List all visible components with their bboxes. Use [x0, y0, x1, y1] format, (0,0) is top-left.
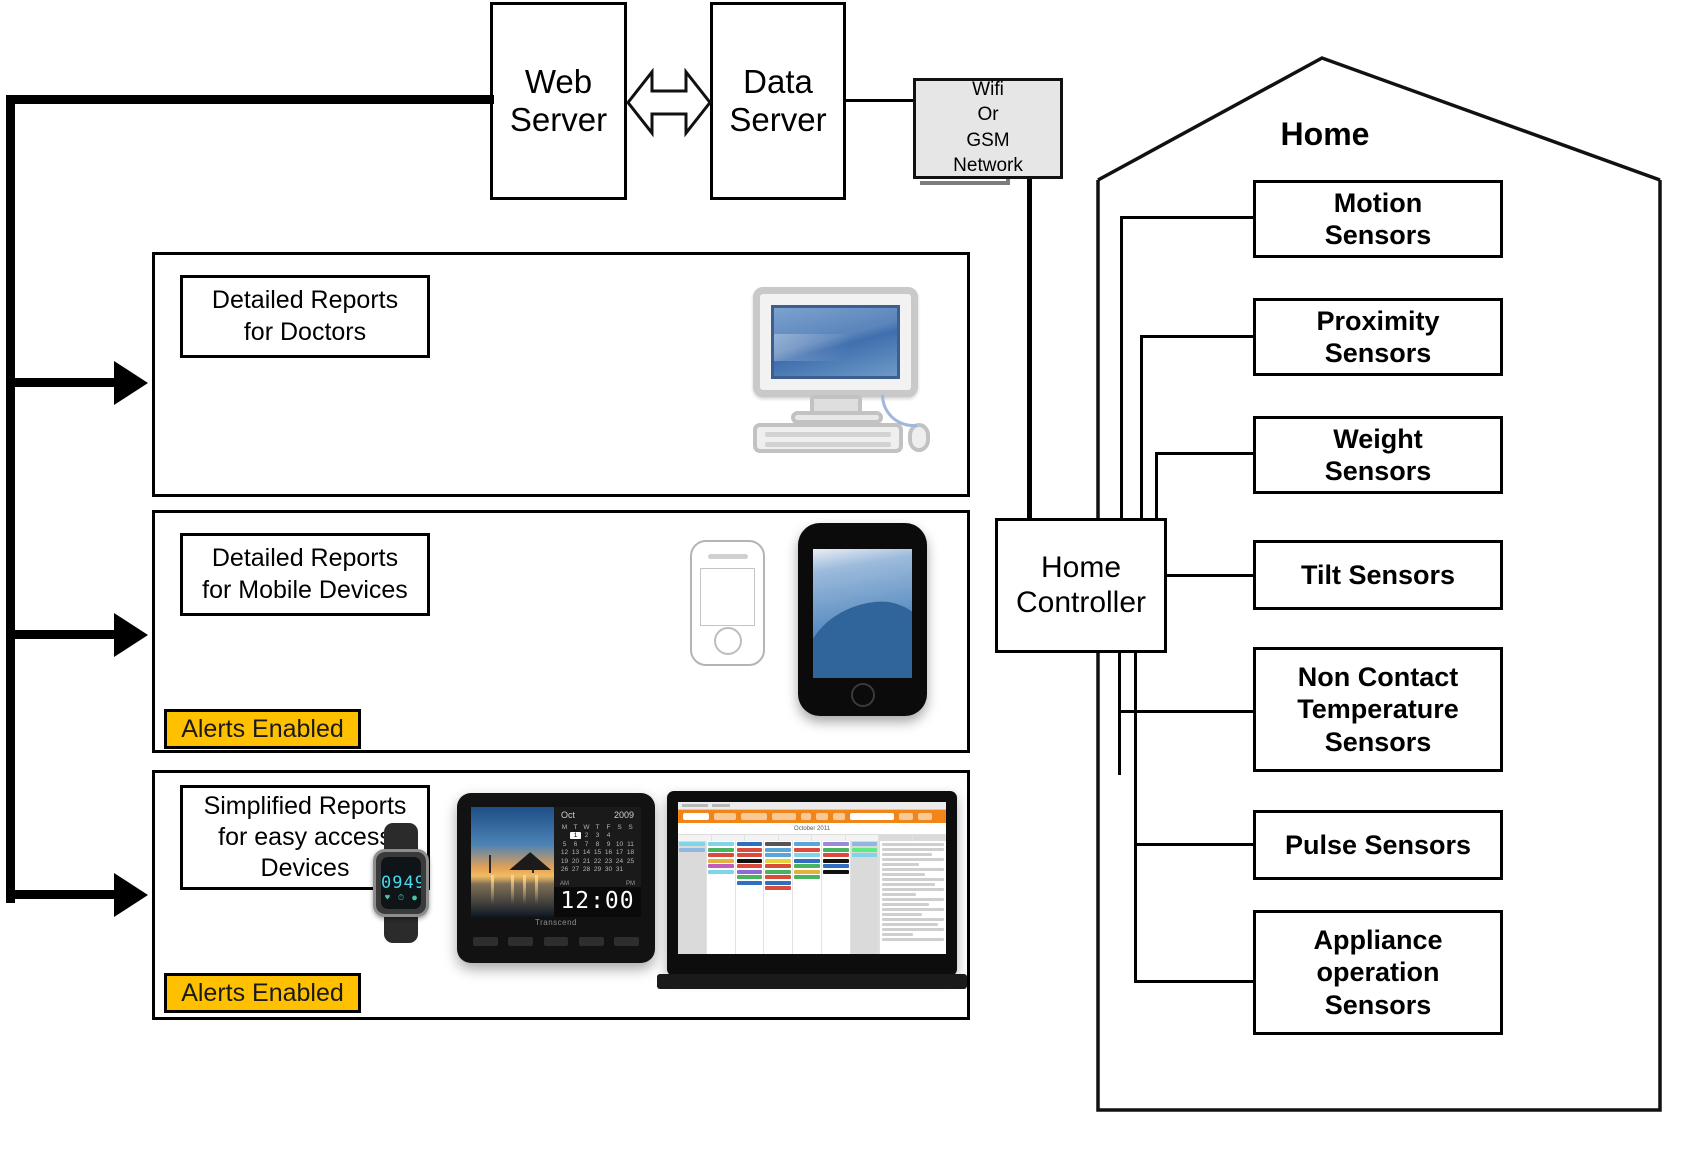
- mouse-icon: [908, 423, 930, 452]
- mobile-report-label: Detailed Reports for Mobile Devices: [202, 543, 408, 606]
- home-controller-box[interactable]: Home Controller: [995, 518, 1167, 653]
- home-controller-label-1: Home: [1041, 551, 1121, 586]
- smartphone-icon: [690, 540, 765, 666]
- sensor-link-motion: [1120, 216, 1255, 219]
- alerts-enabled-badge-easy[interactable]: Alerts Enabled: [164, 973, 361, 1013]
- network-label: Wifi Or GSM Network: [953, 77, 1023, 177]
- bus-arrowhead-easy: [114, 873, 148, 917]
- sensor-box-temperature[interactable]: Non Contact Temperature Sensors: [1253, 647, 1503, 772]
- sensor-label-appliance: Appliance operation Sensors: [1313, 924, 1442, 1021]
- architecture-diagram: Web Server Data Server Wifi Or GSM Netwo…: [0, 0, 1684, 1150]
- sensor-box-pulse[interactable]: Pulse Sensors: [1253, 810, 1503, 880]
- sensor-link-proximity: [1140, 335, 1255, 338]
- tablet-icon: [798, 523, 927, 716]
- doctors-report-label: Detailed Reports for Doctors: [212, 285, 398, 348]
- smartwatch-icon: 0949 ♥⏱●: [365, 823, 437, 943]
- web-server-label: Web Server: [493, 63, 624, 139]
- digital-photo-frame-icon: Oct 2009 MTWTFSS 1234 567891011 12131415…: [457, 793, 655, 963]
- sensor-link-appliance: [1134, 980, 1255, 983]
- sensor-label-weight: Weight Sensors: [1325, 423, 1432, 488]
- alerts-enabled-badge-mobile[interactable]: Alerts Enabled: [164, 709, 361, 749]
- frame-clock: 12:00: [554, 887, 641, 917]
- bus-branch-mobile: [6, 630, 116, 639]
- sensor-label-pulse: Pulse Sensors: [1285, 829, 1471, 861]
- frame-month: Oct: [561, 810, 575, 820]
- sensor-link-temperature: [1118, 710, 1255, 713]
- sensor-box-motion[interactable]: Motion Sensors: [1253, 180, 1503, 258]
- dataserver-network-link: [846, 99, 916, 102]
- data-server-label: Data Server: [713, 63, 843, 139]
- calendar-display-icon: October 2011: [667, 791, 957, 976]
- sensor-label-proximity: Proximity Sensors: [1316, 305, 1439, 370]
- bus-arrowhead-doctors: [114, 361, 148, 405]
- double-headed-arrow-icon: [626, 60, 712, 145]
- mobile-report-label-box: Detailed Reports for Mobile Devices: [180, 533, 430, 616]
- bus-branch-easy: [6, 890, 116, 899]
- sensor-bus-riser-3: [1155, 452, 1158, 520]
- sensor-box-appliance[interactable]: Appliance operation Sensors: [1253, 910, 1503, 1035]
- smartwatch-time: 0949: [381, 873, 421, 893]
- home-label: Home: [1230, 116, 1420, 153]
- bus-vertical-spine: [6, 95, 15, 903]
- panel-mobile[interactable]: Detailed Reports for Mobile Devices Aler…: [152, 510, 970, 753]
- sensor-label-motion: Motion Sensors: [1325, 187, 1432, 252]
- sensor-link-tilt: [1165, 574, 1255, 577]
- panel-doctors[interactable]: Detailed Reports for Doctors: [152, 252, 970, 497]
- frame-brand: Transcend: [535, 918, 577, 927]
- sensor-box-proximity[interactable]: Proximity Sensors: [1253, 298, 1503, 376]
- sensor-box-weight[interactable]: Weight Sensors: [1253, 416, 1503, 494]
- desktop-computer-icon: [753, 287, 928, 452]
- web-server-box[interactable]: Web Server: [490, 2, 627, 200]
- data-server-box[interactable]: Data Server: [710, 2, 846, 200]
- bus-arrowhead-mobile: [114, 613, 148, 657]
- alerts-enabled-label: Alerts Enabled: [181, 715, 344, 744]
- sensor-bus-riser-2: [1140, 335, 1143, 520]
- network-controller-link: [1027, 179, 1032, 519]
- doctors-report-label-box: Detailed Reports for Doctors: [180, 275, 430, 358]
- network-box[interactable]: Wifi Or GSM Network: [913, 78, 1063, 179]
- frame-year: 2009: [614, 810, 634, 820]
- sensor-link-weight: [1155, 452, 1255, 455]
- frame-buttons[interactable]: [473, 931, 639, 951]
- sensor-link-pulse: [1134, 843, 1255, 846]
- sensor-label-tilt: Tilt Sensors: [1301, 559, 1455, 591]
- frame-calendar: MTWTFSS 1234 567891011 12131415161718 19…: [554, 821, 641, 881]
- sensor-bus-riser-1: [1120, 216, 1123, 520]
- keyboard-icon: [753, 423, 903, 453]
- alerts-enabled-label: Alerts Enabled: [181, 979, 344, 1008]
- panel-easy-access[interactable]: Simplified Reports for easy access Devic…: [152, 770, 970, 1020]
- bus-branch-doctors: [6, 378, 116, 387]
- sensor-bus-riser-4: [1134, 650, 1137, 982]
- sensor-label-temperature: Non Contact Temperature Sensors: [1297, 661, 1459, 758]
- sensor-box-tilt[interactable]: Tilt Sensors: [1253, 540, 1503, 610]
- webserver-bus-top: [6, 95, 494, 104]
- calendar-title: October 2011: [678, 823, 946, 835]
- home-controller-label-2: Controller: [1016, 586, 1146, 621]
